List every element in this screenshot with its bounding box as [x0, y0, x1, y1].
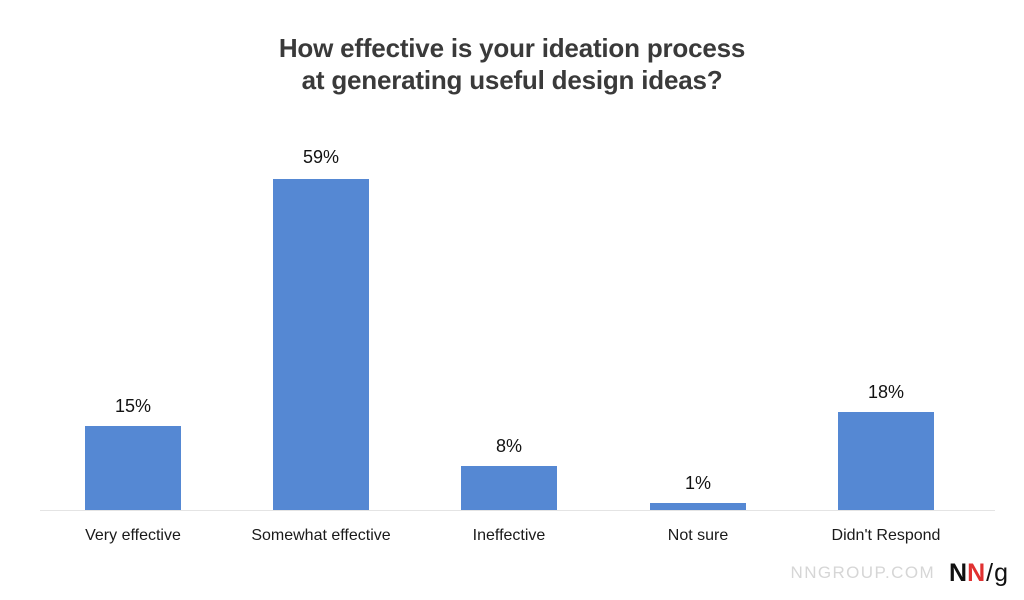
logo-letter-g: g — [994, 560, 1008, 586]
category-label-very-effective: Very effective — [39, 526, 227, 546]
chart-container: How effective is your ideation process a… — [0, 0, 1024, 600]
bar-value-label: 1% — [604, 473, 792, 493]
bar-very-effective[interactable] — [85, 426, 181, 510]
site-url-text: NNGROUP.COM — [791, 563, 936, 583]
logo-slash: / — [985, 560, 994, 586]
bar-not-sure[interactable] — [650, 503, 746, 510]
bar-value-label: 15% — [39, 396, 227, 416]
bar-value-label: 59% — [227, 147, 415, 167]
bar-didnt-respond[interactable] — [838, 412, 934, 510]
bar-value-label: 8% — [415, 436, 603, 456]
category-label-didnt-respond: Didn't Respond — [792, 526, 980, 546]
bar-group-somewhat-effective: 59% Somewhat effective — [227, 0, 415, 600]
bar-group-very-effective: 15% Very effective — [39, 0, 227, 600]
footer-branding: NNGROUP.COM N N / g — [791, 560, 1008, 586]
category-label-somewhat-effective: Somewhat effective — [227, 526, 415, 546]
bar-value-label: 18% — [792, 382, 980, 402]
bar-group-not-sure: 1% Not sure — [604, 0, 792, 600]
nng-logo: N N / g — [949, 560, 1008, 586]
logo-letter-n-black: N — [949, 560, 967, 586]
plot-area: 15% Very effective 59% Somewhat effectiv… — [0, 0, 1024, 600]
bar-ineffective[interactable] — [461, 466, 557, 510]
bar-group-didnt-respond: 18% Didn't Respond — [792, 0, 980, 600]
category-label-ineffective: Ineffective — [415, 526, 603, 546]
category-label-not-sure: Not sure — [604, 526, 792, 546]
bar-somewhat-effective[interactable] — [273, 179, 369, 510]
bar-group-ineffective: 8% Ineffective — [415, 0, 603, 600]
logo-letter-n-red: N — [967, 560, 985, 586]
